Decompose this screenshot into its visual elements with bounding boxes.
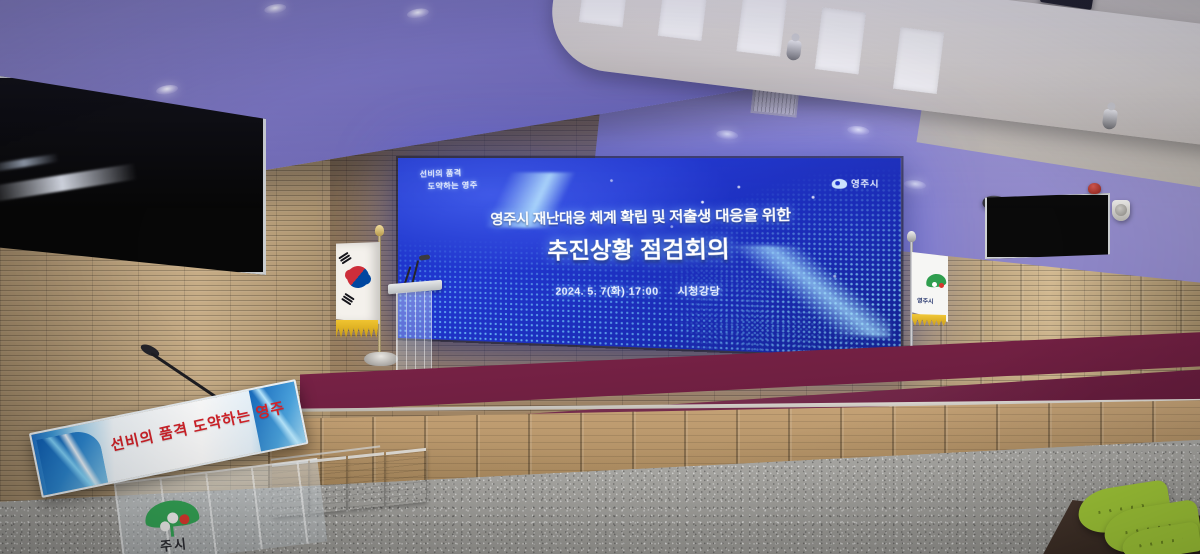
slide-venue: 시청강당	[677, 286, 720, 298]
desk-city-logo: 주시	[144, 497, 213, 553]
wall-display-right[interactable]	[985, 193, 1110, 259]
yeongju-city-flag: 영주시	[912, 244, 950, 344]
led-screen-surface: 선비의 품격 도약하는 영주 영주시 영주시 재난대응 체계 확립 및 저출생 …	[398, 158, 901, 358]
desk-logo-label: 주시	[159, 533, 189, 554]
slide-title: 영주시 재난대응 체계 확립 및 저출생 대응을 위한 추진상황 점검회의	[398, 202, 901, 267]
downlight	[716, 129, 739, 140]
slide-datetime: 2024. 5. 7(화) 17:00	[555, 286, 659, 298]
slide-meta: 2024. 5. 7(화) 17:00 시청강당	[398, 282, 901, 299]
downlight	[155, 84, 178, 97]
flag-fringe	[336, 320, 378, 338]
slide-title-line-2: 추진상황 점검회의	[398, 229, 901, 267]
flag-fringe	[912, 314, 946, 326]
fire-alarm-bell	[1088, 183, 1101, 194]
led-presentation-screen[interactable]: 선비의 품격 도약하는 영주 영주시 영주시 재난대응 체계 확립 및 저출생 …	[398, 158, 901, 358]
trigram-icon	[340, 293, 354, 307]
auditorium-photo: 선비의 품격 도약하는 영주 영주시 영주시 재난대응 체계 확립 및 저출생 …	[0, 0, 1200, 554]
downlight	[847, 125, 870, 136]
banner-swoosh-left-icon	[36, 428, 108, 495]
white-dot-icon	[932, 282, 937, 287]
slide-slogan-line-1: 선비의 품격	[420, 167, 462, 179]
taeguk-icon	[343, 262, 373, 292]
ceiling-spotlight	[786, 40, 802, 62]
screen-glare	[0, 163, 137, 202]
flag-finial-icon	[907, 231, 916, 242]
white-dot-icon	[160, 521, 171, 532]
wall-speaker	[1112, 200, 1130, 221]
city-logo-label: 영주시	[851, 178, 879, 190]
flag-cloth	[336, 242, 380, 324]
soffit-panel	[893, 27, 944, 94]
screen-glare	[0, 154, 59, 173]
downlight	[264, 3, 287, 16]
city-flag-label: 영주시	[917, 295, 934, 305]
downlight	[904, 179, 927, 190]
flag-finial-icon	[375, 225, 384, 236]
flag-cloth: 영주시	[912, 252, 948, 322]
yeongju-city-logo: 영주시	[832, 178, 879, 190]
downlight	[406, 7, 429, 20]
trigram-icon	[338, 252, 352, 266]
podium-face	[396, 291, 432, 373]
slide-slogan-line-2: 도약하는 영주	[427, 180, 477, 193]
soffit-panel	[736, 0, 787, 57]
soffit-panel	[815, 7, 866, 74]
stage-step	[386, 448, 426, 506]
soffit-panel	[579, 0, 630, 27]
red-dot-icon	[939, 283, 944, 288]
soffit-panel	[658, 0, 709, 41]
city-emblem-icon	[832, 179, 847, 189]
ceiling-spotlight	[1102, 109, 1118, 131]
korean-national-flag	[336, 236, 382, 348]
